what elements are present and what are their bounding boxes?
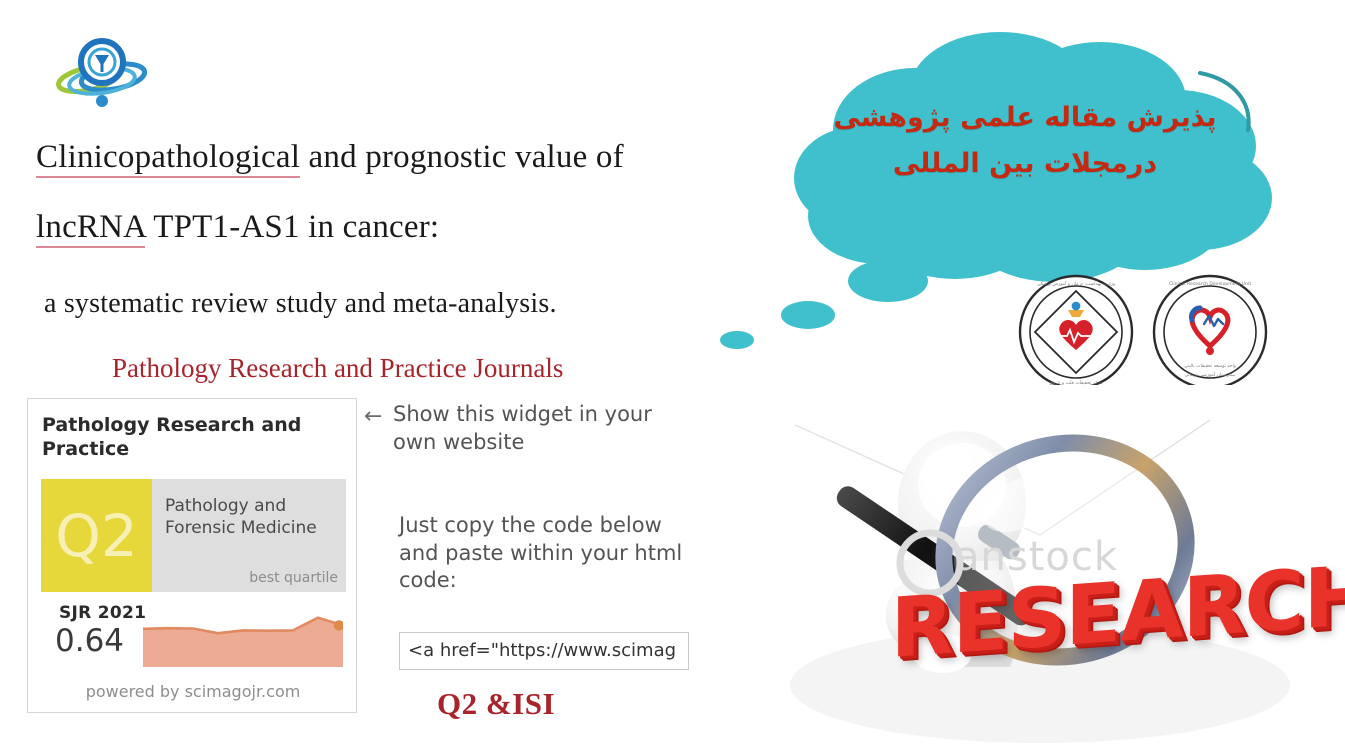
paper-title-line-2: lncRNA TPT1-AS1 in cancer: bbox=[36, 209, 439, 246]
powered-by-label: powered by scimagojr.com bbox=[28, 682, 357, 701]
institutional-logo bbox=[55, 30, 155, 110]
paper-subtitle: a systematic review study and meta-analy… bbox=[44, 288, 557, 320]
quartile-badge: Q2 bbox=[41, 479, 152, 592]
q2-isi-label: Q2 &ISI bbox=[437, 686, 555, 722]
journal-heading: Pathology Research and Practice Journals bbox=[112, 353, 563, 384]
thought-bubble-line-1: پذیرش مقاله علمی پژوهشی bbox=[795, 95, 1255, 141]
clinical-research-development-emblem: Clinical Research Development Unit واحد … bbox=[1154, 276, 1266, 388]
scimago-journal-rank-widget[interactable]: Pathology Research and Practice Q2 Patho… bbox=[27, 398, 357, 713]
show-widget-note: Show this widget in your own website bbox=[393, 401, 683, 456]
paper-title-line-1-rest: and prognostic value of bbox=[300, 139, 624, 175]
arrow-left-icon: ← bbox=[364, 404, 382, 429]
embed-code-input[interactable]: <a href="https://www.scimag bbox=[399, 632, 689, 670]
svg-text:واحد توسعه تحقیقات بالینی: واحد توسعه تحقیقات بالینی bbox=[1184, 364, 1236, 369]
sjr-year-label: SJR 2021 bbox=[59, 603, 146, 623]
copy-code-note: Just copy the code below and paste withi… bbox=[399, 512, 694, 595]
quartile-row: Q2 Pathology and Forensic Medicine best … bbox=[41, 479, 346, 592]
svg-text:Clinical Research Development: Clinical Research Development Unit bbox=[1169, 281, 1251, 287]
sjr-block: SJR 2021 0.64 bbox=[41, 603, 346, 673]
thought-trail-bubbles bbox=[720, 260, 928, 349]
research-photo: anstock RESEARCH bbox=[790, 385, 1345, 750]
emblem-row: وزارت بهداشت، درمان و آموزش پزشکی مرکز ت… bbox=[1018, 272, 1268, 392]
quartile-category-label: Pathology and Forensic Medicine bbox=[165, 495, 345, 539]
misspelled-word-clinicopathological: Clinicopathological bbox=[36, 139, 300, 178]
best-quartile-label: best quartile bbox=[249, 570, 338, 586]
paper-title-line-1: Clinicopathological and prognostic value… bbox=[36, 139, 624, 176]
paper-title-line-2-rest: TPT1-AS1 in cancer: bbox=[145, 209, 439, 245]
widget-journal-title: Pathology Research and Practice bbox=[42, 413, 342, 462]
sjr-sparkline-chart bbox=[143, 605, 343, 667]
svg-text:وزارت بهداشت، درمان و آموزش پز: وزارت بهداشت، درمان و آموزش پزشکی bbox=[1037, 281, 1115, 287]
health-ministry-emblem: وزارت بهداشت، درمان و آموزش پزشکی مرکز ت… bbox=[1020, 276, 1132, 388]
sjr-value: 0.64 bbox=[55, 623, 124, 659]
presentation-slide: Clinicopathological and prognostic value… bbox=[0, 0, 1345, 750]
thought-bubble-text: پذیرش مقاله علمی پژوهشی درمجلات بین المل… bbox=[795, 95, 1255, 187]
thought-bubble-line-2: درمجلات بین المللی bbox=[795, 141, 1255, 187]
misspelled-word-lncrna: lncRNA bbox=[36, 209, 145, 248]
svg-text:بیمارستان آموزشی درمانی: بیمارستان آموزشی درمانی bbox=[1184, 372, 1235, 378]
